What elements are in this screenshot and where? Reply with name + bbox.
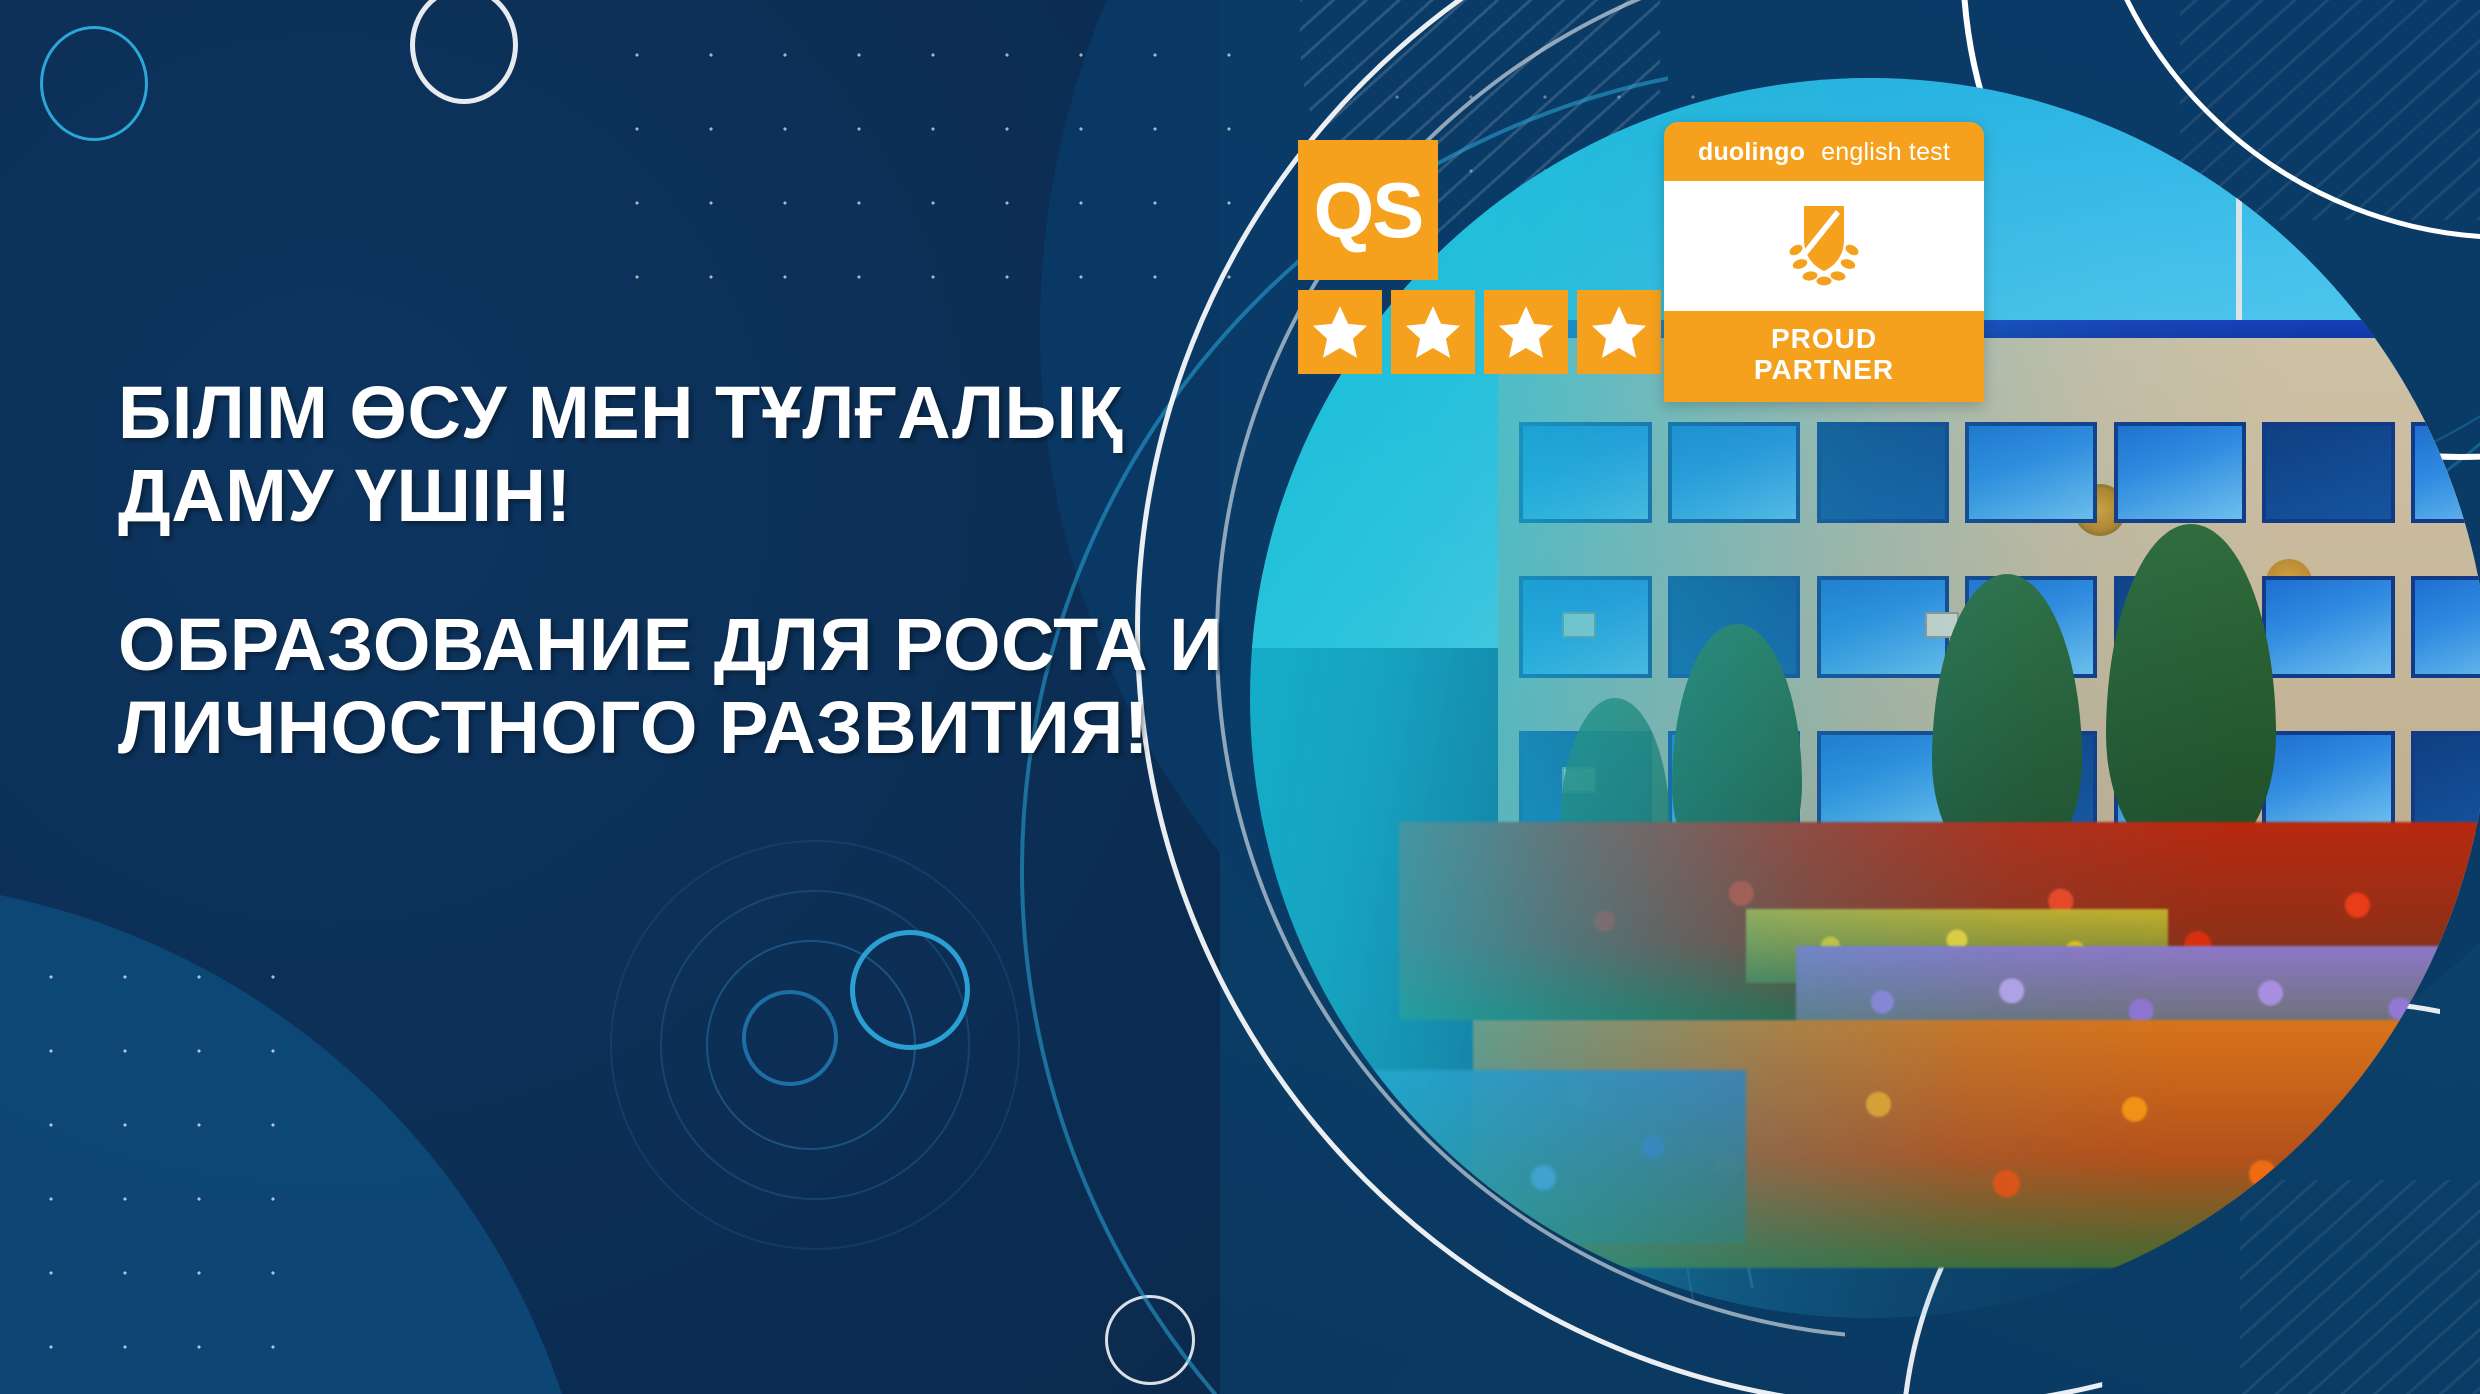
headline-russian: ОБРАЗОВАНИЕ ДЛЯ РОСТА И ЛИЧНОСТНОГО РАЗВ…	[118, 604, 1298, 770]
headline-kazakh: БІЛІМ ӨСУ МЕН ТҰЛҒАЛЫҚ ДАМУ ҮШІН!	[118, 372, 1298, 538]
qs-logo-tile: QS	[1298, 140, 1438, 280]
headline-spacer	[118, 538, 1298, 604]
qs-logo-text: QS	[1314, 171, 1423, 249]
duolingo-product-text: english test	[1821, 138, 1950, 166]
duolingo-status-line-2: PARTNER	[1672, 354, 1976, 385]
outline-circle-small-top-left	[40, 26, 148, 141]
duolingo-status-line-1: PROUD	[1672, 323, 1976, 354]
concentric-ring-inner	[742, 990, 838, 1086]
duolingo-badge-footer: PROUD PARTNER	[1664, 311, 1984, 402]
dot-grid-top	[600, 18, 1240, 348]
star-icon	[1577, 290, 1661, 374]
duolingo-shield-laurel-icon	[1774, 198, 1874, 294]
duolingo-brand-text: duolingo	[1698, 138, 1805, 166]
outline-circle-accent	[850, 930, 970, 1050]
qs-stars-badge: QS	[1298, 140, 1661, 374]
dot-grid-bottom-left	[14, 940, 344, 1380]
duolingo-proud-partner-badge: duolingo english test PROUD PARTNER	[1664, 122, 1984, 402]
star-icon	[1391, 290, 1475, 374]
headline-block: БІЛІМ ӨСУ МЕН ТҰЛҒАЛЫҚ ДАМУ ҮШІН! ОБРАЗО…	[118, 372, 1298, 770]
duolingo-badge-body	[1664, 181, 1984, 311]
qs-star-row	[1298, 290, 1661, 374]
duolingo-badge-header: duolingo english test	[1664, 122, 1984, 181]
star-icon	[1298, 290, 1382, 374]
star-icon	[1484, 290, 1568, 374]
presentation-slide: QS duolingo english test	[0, 0, 2480, 1394]
